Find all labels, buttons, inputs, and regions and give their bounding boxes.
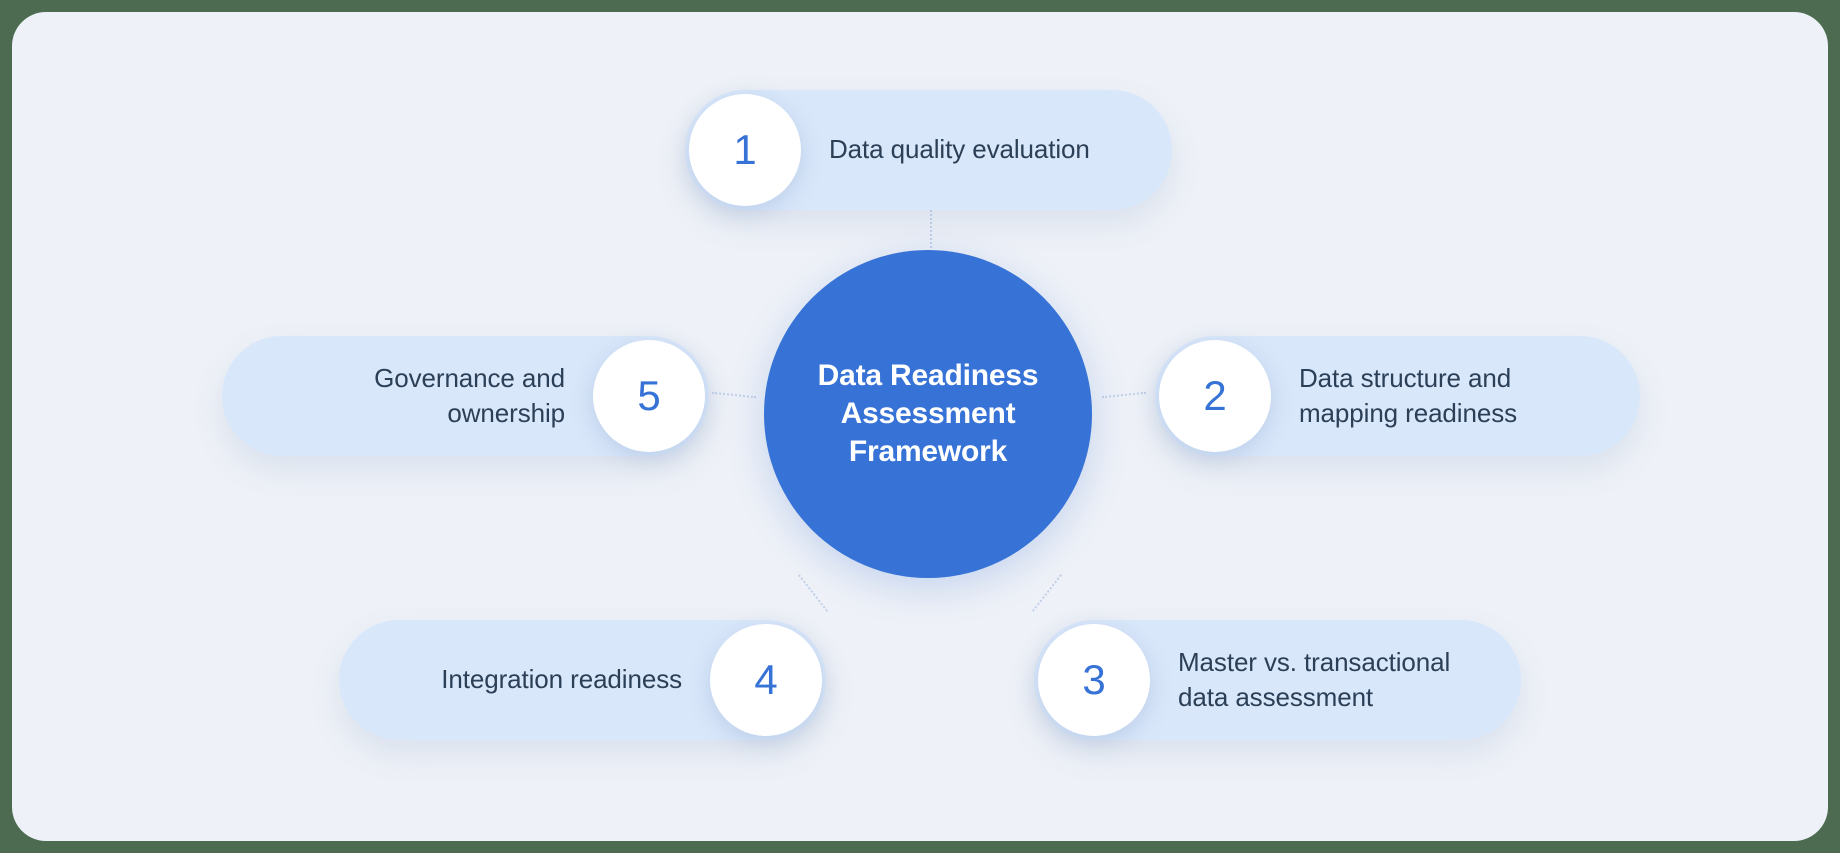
connector-hub-to-node-3: [1032, 574, 1062, 611]
diagram-card: Data Readiness Assessment Framework 1 Da…: [12, 12, 1828, 841]
connector-hub-to-node-4: [798, 574, 828, 611]
node-2-badge: 2: [1159, 340, 1271, 452]
node-4-label: Integration readiness: [441, 662, 682, 697]
node-1[interactable]: 1 Data quality evaluation: [685, 90, 1172, 210]
node-1-label: Data quality evaluation: [829, 132, 1090, 167]
center-hub[interactable]: Data Readiness Assessment Framework: [764, 250, 1092, 578]
node-5[interactable]: Governance and ownership 5: [222, 336, 709, 456]
node-5-badge: 5: [593, 340, 705, 452]
node-1-badge: 1: [689, 94, 801, 206]
connector-hub-to-node-5: [712, 392, 756, 399]
node-4[interactable]: Integration readiness 4: [339, 620, 826, 740]
node-3-badge: 3: [1038, 624, 1150, 736]
node-2[interactable]: 2 Data structure and mapping readiness: [1155, 336, 1640, 456]
node-2-label: Data structure and mapping readiness: [1299, 361, 1517, 431]
node-4-badge: 4: [710, 624, 822, 736]
hub-title: Data Readiness Assessment Framework: [796, 357, 1061, 470]
connector-hub-to-node-2: [1102, 392, 1146, 399]
node-5-label: Governance and ownership: [374, 361, 565, 431]
node-3-label: Master vs. transactional data assessment: [1178, 645, 1450, 715]
connector-hub-to-node-1: [930, 210, 932, 248]
node-3[interactable]: 3 Master vs. transactional data assessme…: [1034, 620, 1521, 740]
